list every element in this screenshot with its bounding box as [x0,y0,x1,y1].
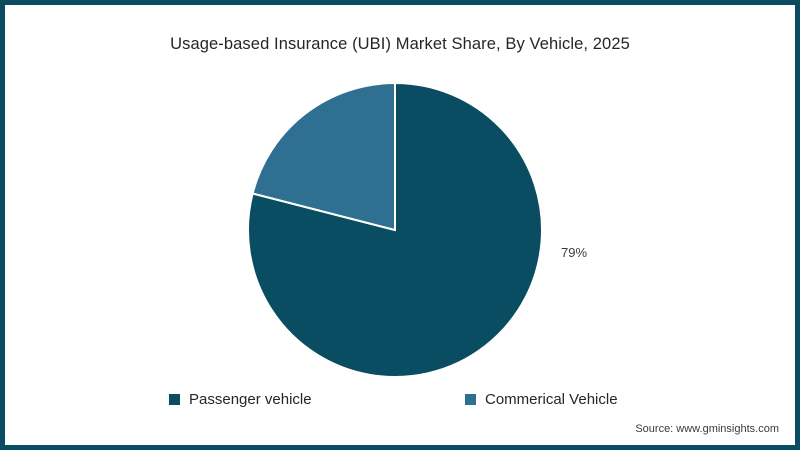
source-attribution: Source: www.gminsights.com [635,423,779,435]
pie-slice-group [248,83,542,377]
legend-swatch-icon [465,394,476,405]
chart-figure: Usage-based Insurance (UBI) Market Share… [0,0,800,450]
legend-item-commercial-vehicle[interactable]: Commerical Vehicle [465,391,618,408]
chart-legend: Passenger vehicle Commerical Vehicle [165,391,665,413]
pie-chart-svg [243,78,547,382]
pie-chart [243,78,547,382]
legend-item-label: Commerical Vehicle [485,391,618,408]
legend-item-label: Passenger vehicle [189,391,312,408]
page-title: Usage-based Insurance (UBI) Market Share… [5,35,795,54]
pie-slice-value-label: 79% [561,245,587,260]
legend-swatch-icon [169,394,180,405]
legend-item-passenger-vehicle[interactable]: Passenger vehicle [169,391,312,408]
